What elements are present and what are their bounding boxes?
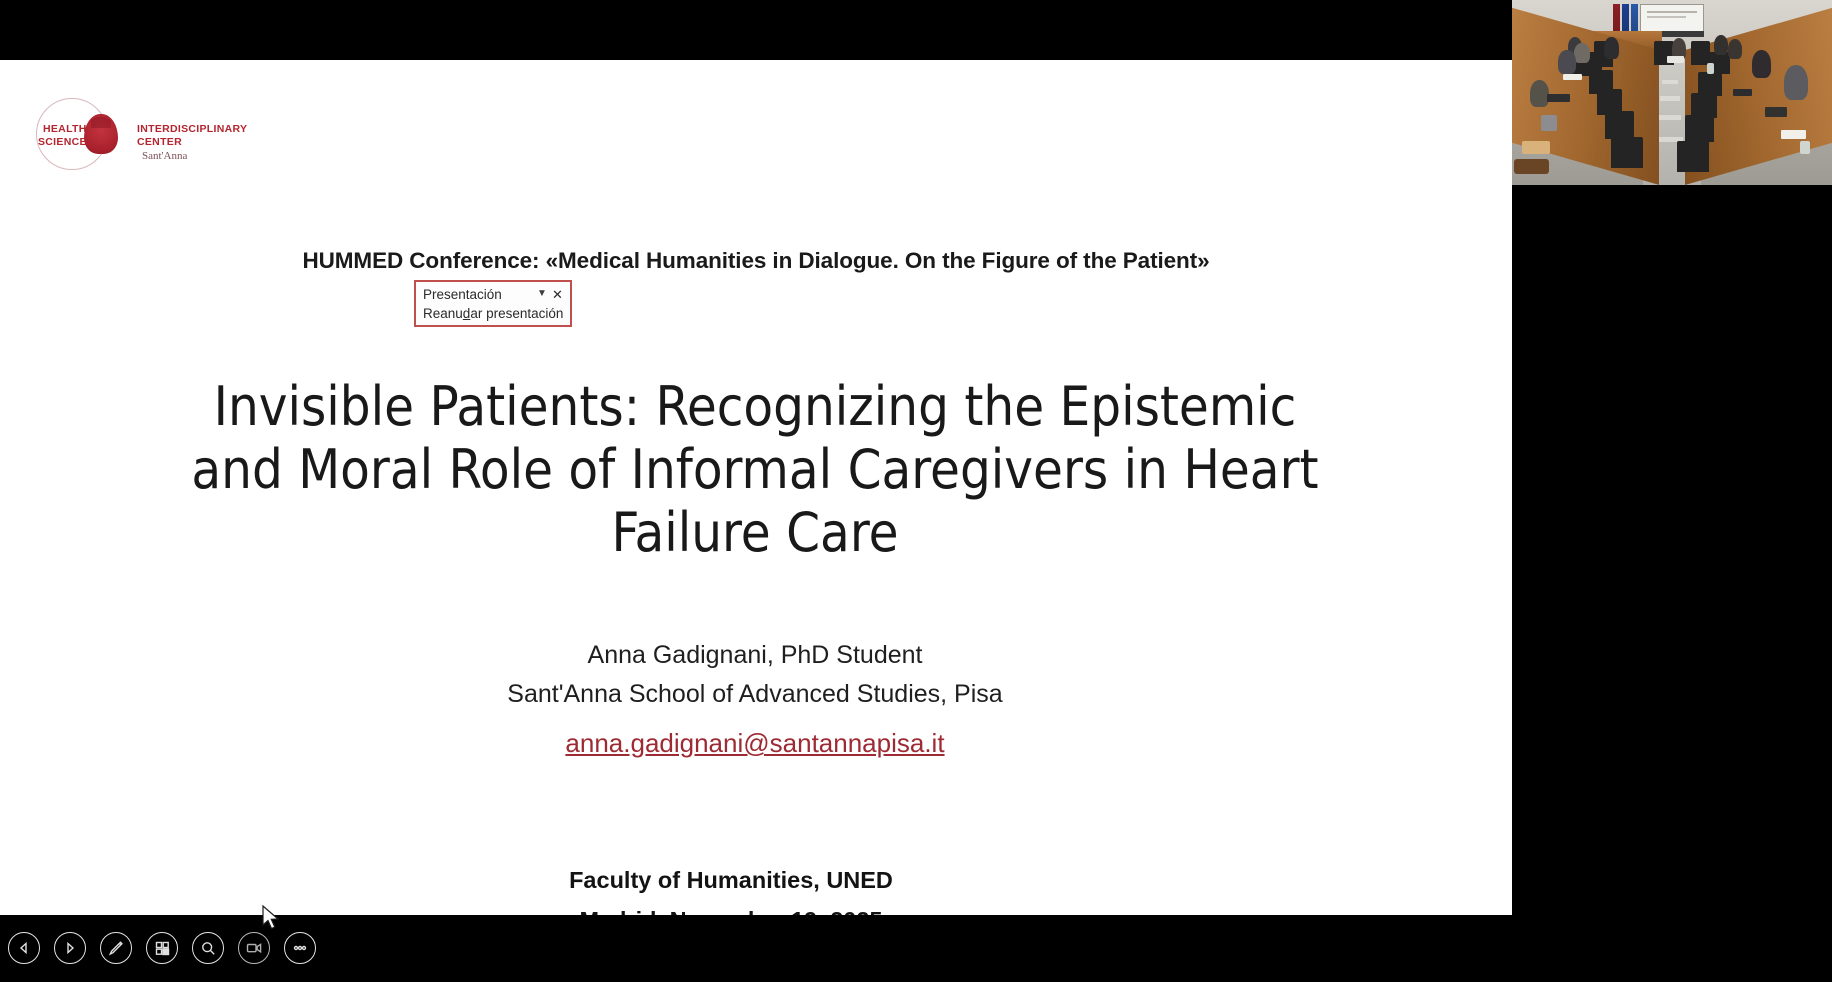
conference-banner: HUMMED Conference: «Medical Humanities i… <box>0 248 1512 274</box>
subtitles-camera-button[interactable] <box>238 932 270 964</box>
footer-venue: Faculty of Humanities, UNED <box>170 860 1292 900</box>
video-floor-mark <box>1662 80 1678 85</box>
presentation-popup-title: Presentación <box>423 287 534 302</box>
presentation-screen-share-view: HEALTH SCIENCE INTERDISCIPLINARY CENTER … <box>0 0 1832 982</box>
video-laptop <box>1667 56 1685 63</box>
video-folder <box>1733 89 1752 96</box>
logo-left-line2: SCIENCE <box>38 136 87 148</box>
video-participant <box>1714 35 1728 55</box>
author-block: Anna Gadignani, PhD Student Sant'Anna Sc… <box>170 636 1340 759</box>
video-participant <box>1728 39 1742 59</box>
building-emblem-icon <box>84 114 118 154</box>
video-participant <box>1530 80 1549 108</box>
next-slide-button[interactable] <box>54 932 86 964</box>
video-participant <box>1558 50 1576 74</box>
video-chair <box>1685 115 1714 143</box>
logo-subtitle: Sant'Anna <box>142 150 187 162</box>
video-thermos <box>1541 115 1557 132</box>
logo-right-line1: INTERDISCIPLINARY <box>137 123 247 135</box>
mouse-pointer-icon <box>262 905 282 933</box>
chevron-down-icon[interactable]: ▼ <box>534 289 550 299</box>
video-participant <box>1752 50 1771 78</box>
video-chair <box>1677 141 1709 172</box>
resume-presentation-item[interactable]: Reanudar presentación <box>416 304 570 321</box>
video-floor-mark <box>1659 115 1681 121</box>
video-water-bottle <box>1707 63 1714 74</box>
footer-block: Faculty of Humanities, UNED Madrid, Nove… <box>170 860 1292 915</box>
video-participant <box>1784 65 1808 100</box>
previous-slide-button[interactable] <box>8 932 40 964</box>
video-tray <box>1514 159 1549 174</box>
video-water-bottle <box>1800 141 1810 154</box>
logo-right-line2: CENTER <box>137 136 182 148</box>
video-paper <box>1781 130 1807 139</box>
presentation-popup-header: Presentación ▼ ✕ <box>416 285 570 304</box>
author-name-role: Anna Gadignani, PhD Student <box>170 636 1340 675</box>
shared-slide-canvas[interactable]: HEALTH SCIENCE INTERDISCIPLINARY CENTER … <box>0 60 1512 915</box>
hsic-logo: HEALTH SCIENCE INTERDISCIPLINARY CENTER … <box>36 98 241 170</box>
video-chair <box>1611 137 1643 168</box>
author-email-link[interactable]: anna.gadignani@santannapisa.it <box>565 728 944 758</box>
more-options-button[interactable] <box>284 932 316 964</box>
video-folder <box>1765 107 1787 116</box>
video-participant <box>1604 37 1619 59</box>
logo-left-line1: HEALTH <box>43 123 87 135</box>
remote-video-tile[interactable] <box>1512 0 1832 185</box>
video-tray <box>1522 141 1551 154</box>
presentation-toolbar <box>8 932 316 964</box>
video-participant <box>1574 43 1590 63</box>
video-folder <box>1547 94 1569 101</box>
video-chair <box>1605 111 1634 139</box>
all-slides-button[interactable] <box>146 932 178 964</box>
close-icon[interactable]: ✕ <box>550 287 565 303</box>
video-paper <box>1563 74 1582 80</box>
author-affiliation: Sant'Anna School of Advanced Studies, Pi… <box>170 675 1340 714</box>
footer-date: Madrid, November 19, 2025 <box>170 900 1292 915</box>
slide-title: Invisible Patients: Recognizing the Epis… <box>170 375 1340 565</box>
pen-tool-button[interactable] <box>100 932 132 964</box>
video-floor-mark <box>1660 96 1679 101</box>
resume-prefix: Reanu <box>423 306 463 321</box>
video-projection-screen <box>1640 4 1704 35</box>
resume-suffix: ar presentación <box>470 306 563 321</box>
presentation-popup[interactable]: Presentación ▼ ✕ Reanudar presentación <box>414 280 572 327</box>
zoom-button[interactable] <box>192 932 224 964</box>
